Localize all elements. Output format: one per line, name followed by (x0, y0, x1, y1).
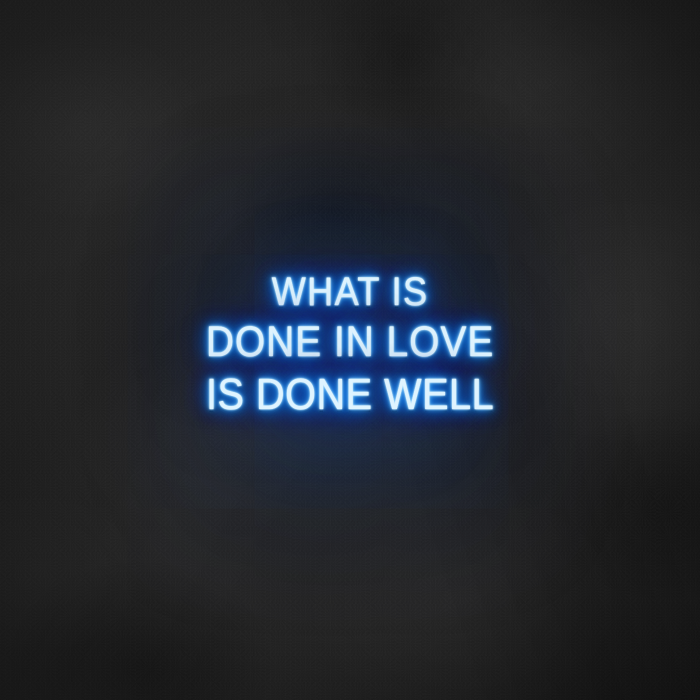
wall-vignette (0, 0, 700, 700)
neon-sign-scene: WHAT IS WHAT IS DONE IN LOVE DONE IN LOV… (0, 0, 700, 700)
